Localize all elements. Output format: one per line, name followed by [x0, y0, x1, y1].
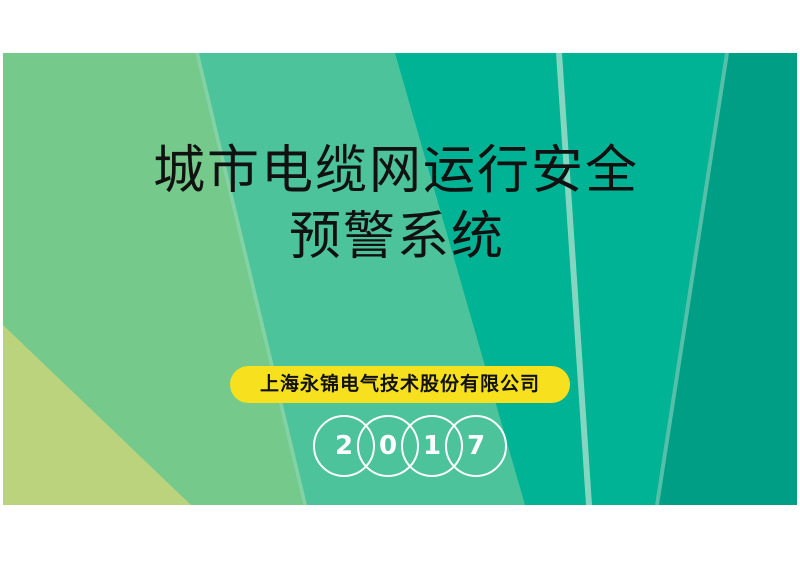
title-line-2: 预警系统: [3, 204, 797, 270]
slide-title: 城市电缆网运行安全 预警系统: [3, 138, 797, 270]
slide-frame: 城市电缆网运行安全 预警系统 上海永锦电气技术股份有限公司 2 0 1 7: [0, 0, 800, 566]
title-line-1: 城市电缆网运行安全: [3, 138, 797, 204]
company-pill-container: 上海永锦电气技术股份有限公司: [3, 366, 797, 403]
slide-canvas: 城市电缆网运行安全 预警系统 上海永锦电气技术股份有限公司 2 0 1 7: [3, 53, 797, 505]
year-badge-group: 2 0 1 7: [313, 415, 509, 483]
company-name-badge: 上海永锦电气技术股份有限公司: [230, 366, 570, 403]
year-digit-circle: 7: [445, 415, 507, 477]
year-badge-row: 2 0 1 7: [3, 415, 797, 483]
